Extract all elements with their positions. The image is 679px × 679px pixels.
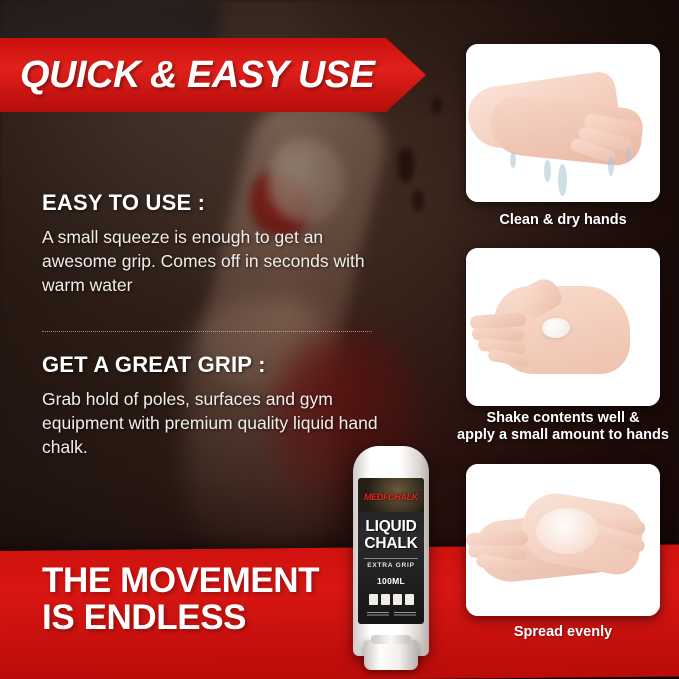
product-pictogram-row	[369, 594, 414, 605]
photo-water-drop-2	[544, 160, 551, 182]
step-caption-2-line-1: Shake contents well &	[440, 410, 679, 427]
step-caption-3: Spread evenly	[440, 624, 679, 641]
section-heading-easy-to-use: EASY TO USE :	[42, 190, 382, 216]
top-banner: QUICK & EASY USE	[0, 38, 426, 112]
step-caption-2-line-2: apply a small amount to hands	[440, 427, 679, 444]
section-divider	[42, 331, 372, 332]
pictogram-icon-4	[405, 594, 414, 605]
step-caption-1: Clean & dry hands	[440, 212, 679, 229]
product-label: MEDI-CHALK LIQUID CHALK EXTRA GRIP 100ML	[358, 478, 424, 624]
section-heading-great-grip: GET A GREAT GRIP :	[42, 352, 392, 378]
product-name-line-2: CHALK	[364, 535, 417, 553]
product-fineprint-row	[367, 612, 416, 617]
product-name-line-1: LIQUID	[365, 518, 416, 536]
pictogram-icon-3	[393, 594, 402, 605]
photo-rubbing-hands	[466, 464, 660, 616]
photo-water-drop-1	[510, 152, 516, 168]
product-tube: MEDI-CHALK LIQUID CHALK EXTRA GRIP 100ML	[353, 446, 429, 656]
top-banner-title: QUICK & EASY USE	[20, 54, 374, 97]
fineprint-block-right	[394, 612, 416, 617]
pictogram-icon-2	[381, 594, 390, 605]
fineprint-block-left	[367, 612, 389, 617]
photo-open-palm	[466, 248, 660, 406]
pictogram-icon-1	[369, 594, 378, 605]
step-photo-clean-dry-hands	[466, 44, 660, 202]
product-tube-cap	[364, 640, 418, 670]
section-get-a-great-grip: GET A GREAT GRIP : Grab hold of poles, s…	[42, 352, 392, 459]
product-brand-name: MEDI-CHALK	[358, 492, 424, 502]
step-photo-spread-evenly	[466, 464, 660, 616]
photo-water-drop-5	[626, 148, 631, 162]
step-caption-2: Shake contents well & apply a small amou…	[440, 410, 679, 444]
photo-water-drop-3	[558, 164, 567, 196]
section-body-easy-to-use: A small squeeze is enough to get an awes…	[42, 225, 382, 297]
product-tagline: EXTRA GRIP	[367, 562, 415, 569]
product-label-rule	[364, 558, 418, 559]
section-easy-to-use: EASY TO USE : A small squeeze is enough …	[42, 190, 382, 297]
photo-chalk-sheen	[536, 508, 598, 554]
product-label-header: MEDI-CHALK	[358, 478, 424, 512]
photo-water-drop-4	[608, 156, 614, 176]
product-volume: 100ML	[377, 576, 405, 586]
photo-washing-hands	[466, 44, 660, 202]
step-photo-apply-amount	[466, 248, 660, 406]
infographic-canvas: QUICK & EASY USE EASY TO USE : A small s…	[0, 0, 679, 679]
section-body-great-grip: Grab hold of poles, surfaces and gym equ…	[42, 387, 392, 459]
